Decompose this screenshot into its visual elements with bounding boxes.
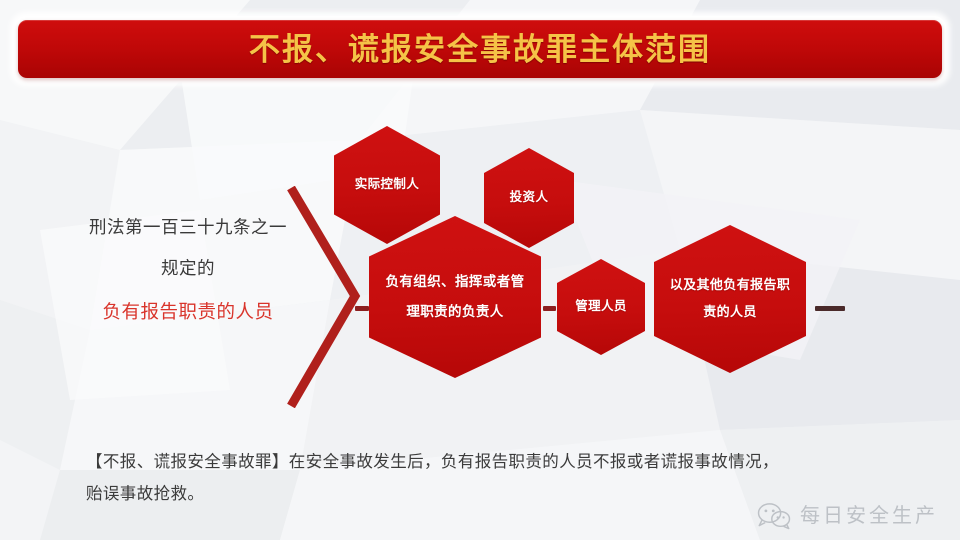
wechat-icon: [757, 502, 791, 530]
hexagon-investor[interactable]: 投资人: [484, 148, 574, 248]
page-title: 不报、谎报安全事故罪主体范围: [249, 34, 711, 65]
bottom-note: 【不报、谎报安全事故罪】在安全事故发生后，负有报告职责的人员不报或者谎报事故情况…: [86, 446, 876, 510]
bottom-note-line-1: 【不报、谎报安全事故罪】在安全事故发生后，负有报告职责的人员不报或者谎报事故情况…: [86, 446, 876, 478]
slide-canvas: 不报、谎报安全事故罪主体范围 刑法第一百三十九条之一 规定的 负有报告职责的人员…: [0, 0, 960, 540]
hexagon-other-reporting-duty-label: 以及其他负有报告职 责的人员: [662, 272, 799, 325]
title-bar-container: 不报、谎报安全事故罪主体范围: [14, 16, 946, 82]
title-bar: 不报、谎报安全事故罪主体范围: [18, 20, 942, 78]
hexagon-other-reporting-duty-line-1: 以及其他负有报告职: [670, 277, 791, 292]
hexagon-management-staff-label: 管理人员: [567, 297, 635, 316]
hexagon-other-reporting-duty[interactable]: 以及其他负有报告职 责的人员: [654, 225, 806, 373]
hexagon-actual-controller-label: 实际控制人: [347, 175, 428, 194]
hexagon-responsible-person-line-1: 负有组织、指挥或者管: [386, 274, 525, 289]
hexagon-actual-controller[interactable]: 实际控制人: [334, 126, 440, 244]
watermark-text: 每日安全生产: [800, 506, 938, 526]
hexagon-other-reporting-duty-line-2: 责的人员: [703, 304, 757, 319]
connector-dash-right: [815, 306, 845, 311]
hexagon-management-staff[interactable]: 管理人员: [557, 259, 645, 355]
hexagon-responsible-person-label: 负有组织、指挥或者管 理职责的负责人: [378, 267, 533, 326]
hexagon-investor-label: 投资人: [502, 188, 557, 207]
connector-dash-left: [355, 306, 369, 311]
watermark: 每日安全生产: [757, 502, 938, 530]
connector-dash-middle: [543, 306, 556, 311]
hexagon-responsible-person-line-2: 理职责的负责人: [406, 304, 503, 319]
